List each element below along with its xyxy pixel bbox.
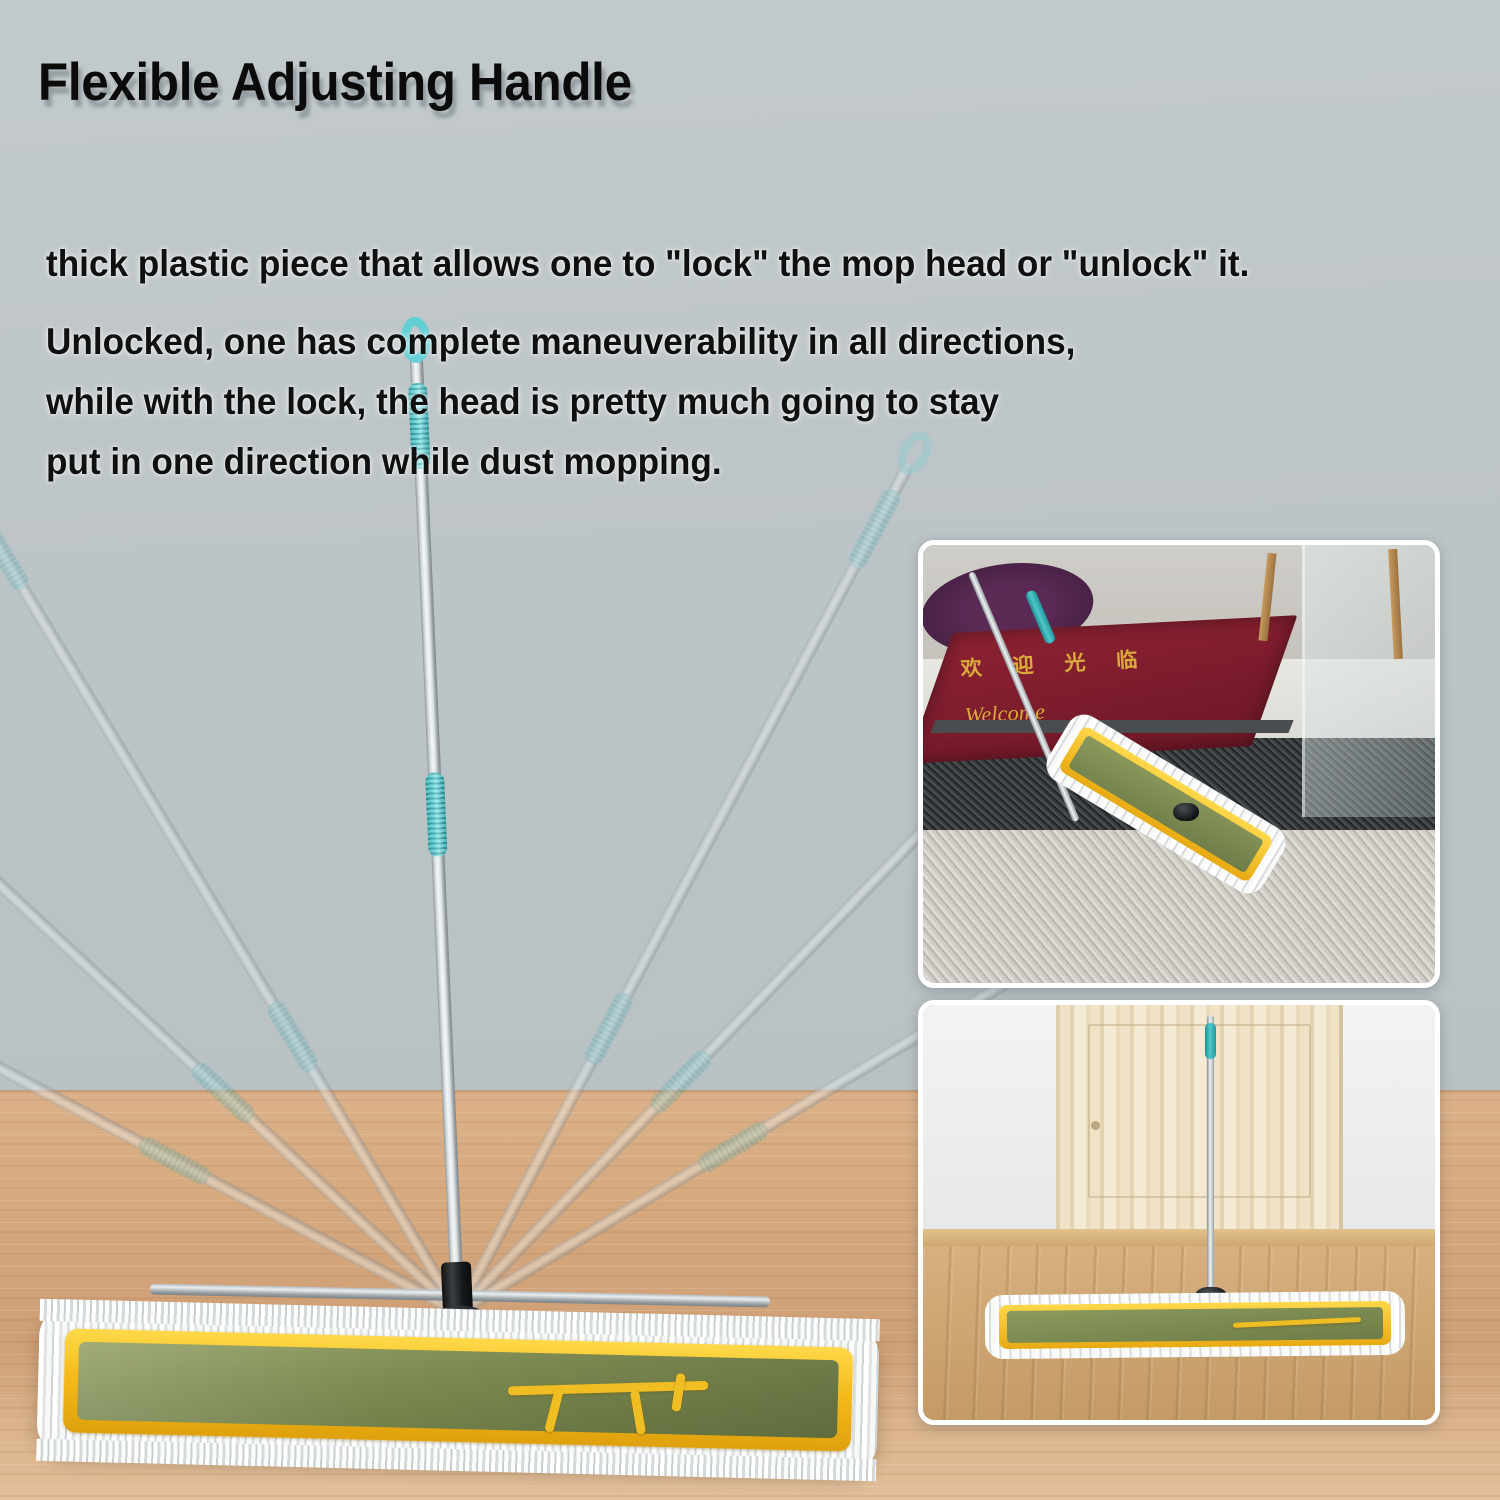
mop-head-main <box>36 1306 879 1474</box>
page-title: Flexible Adjusting Handle <box>38 52 632 113</box>
inset-swivel-joint <box>1173 803 1199 821</box>
handle-grip-mid <box>424 772 447 857</box>
product-infographic: Flexible Adjusting Handle thick plastic … <box>0 0 1500 1500</box>
inset-mop-head <box>985 1291 1406 1359</box>
inset-photo-doorway <box>918 1000 1440 1425</box>
inset-wooden-door <box>1056 1005 1343 1246</box>
paragraph-two-line-3: put in one direction while dust mopping. <box>46 432 1075 492</box>
paragraph-one: thick plastic piece that allows one to "… <box>46 234 1313 294</box>
inset-door-panel <box>1088 1024 1311 1197</box>
inset-photo-entrance: 欢 迎 光 临 Welcome <box>918 540 1440 988</box>
inset-glass-door <box>1302 545 1435 817</box>
inset-door-knob <box>1091 1121 1100 1130</box>
paragraph-two-line-2: while with the lock, the head is pretty … <box>46 372 1075 432</box>
paragraph-two: Unlocked, one has complete maneuverabili… <box>46 312 1130 492</box>
inset-mop-pad <box>1007 1307 1383 1343</box>
inset-handle-grip <box>1205 1023 1216 1059</box>
paragraph-two-line-1: Unlocked, one has complete maneuverabili… <box>46 312 1075 372</box>
paragraph-one-line-1: thick plastic piece that allows one to "… <box>46 234 1249 294</box>
